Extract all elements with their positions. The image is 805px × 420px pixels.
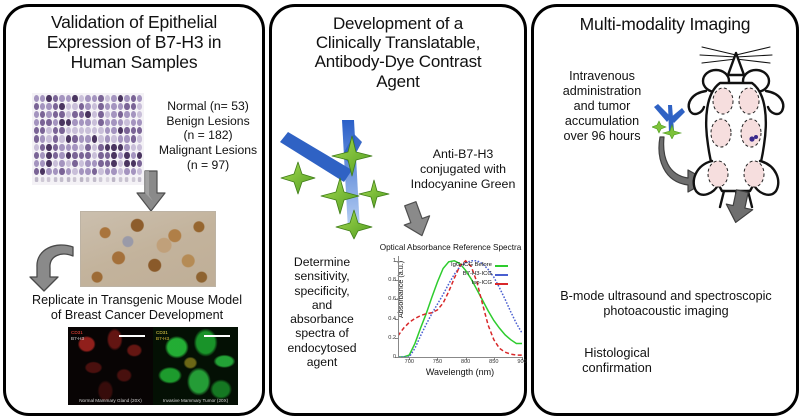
tma-core: [59, 103, 64, 110]
tma-core: [124, 160, 129, 167]
title-line: Antibody-Dye Contrast: [278, 52, 518, 71]
arrow-down-icon: [724, 189, 758, 225]
tma-core: [46, 135, 51, 142]
tma-core: [72, 95, 77, 102]
injection-line: over 96 hours: [548, 129, 656, 144]
arrow-down-right-icon: [402, 200, 436, 238]
tma-core: [72, 152, 77, 159]
determine-line: and: [280, 298, 364, 312]
tma-core: [111, 160, 116, 167]
cohort-line: (n = 182): [152, 128, 264, 143]
tma-core: [59, 135, 64, 142]
tma-core: [73, 177, 77, 182]
chart-x-tick-label: 750: [433, 359, 442, 365]
chart-legend: IgG-ICG BeforeB7-H3-ICGIso-ICG: [451, 261, 508, 288]
tma-core: [98, 152, 103, 159]
injection-text: Intravenous administration and tumor acc…: [548, 69, 656, 145]
legend-swatch: [495, 265, 508, 267]
tma-core: [111, 127, 116, 134]
panel-left-title: Validation of Epithelial Expression of B…: [6, 7, 262, 72]
tma-core: [40, 95, 45, 102]
tma-core: [79, 135, 84, 142]
tma-core: [118, 119, 123, 126]
fluorescence-caption: Normal Mammary Gland (20X): [68, 398, 153, 403]
chart-y-tick-label: 0: [393, 354, 396, 360]
tma-core: [54, 177, 58, 182]
tma-core: [40, 111, 45, 118]
tma-core: [124, 95, 129, 102]
tma-core: [111, 152, 116, 159]
tma-core: [53, 144, 58, 151]
tma-core: [105, 119, 110, 126]
tma-core: [98, 160, 103, 167]
tma-core: [137, 152, 142, 159]
tma-core: [40, 103, 45, 110]
fluorescence-image-pair: CD31 B7-H3 Normal Mammary Gland (20X) CD…: [68, 327, 238, 405]
tma-core: [66, 103, 71, 110]
tma-core: [124, 103, 129, 110]
tma-core: [137, 111, 142, 118]
tma-core: [118, 144, 123, 151]
tma-core: [59, 119, 64, 126]
tma-core: [98, 144, 103, 151]
chart-x-tick-label: 700: [405, 359, 414, 365]
tma-core: [46, 160, 51, 167]
chart-title: Optical Absorbance Reference Spectra: [373, 243, 528, 252]
ihc-stain-image: [80, 211, 216, 287]
tma-core: [124, 144, 129, 151]
tma-core: [85, 168, 90, 175]
panel-middle-title: Development of a Clinically Translatable…: [272, 7, 524, 91]
tma-core: [131, 160, 136, 167]
tma-core: [53, 103, 58, 110]
tma-core: [131, 152, 136, 159]
histology-line: confirmation: [566, 360, 668, 375]
tma-core: [79, 127, 84, 134]
tma-core: [66, 144, 71, 151]
tma-core: [111, 168, 116, 175]
tma-core: [59, 144, 64, 151]
tma-core: [105, 177, 109, 182]
determine-line: spectra of: [280, 326, 364, 340]
histology-text: Histological confirmation: [566, 345, 668, 376]
tma-core: [85, 103, 90, 110]
tma-core: [137, 95, 142, 102]
tma-core: [86, 177, 90, 182]
tma-core: [111, 119, 116, 126]
tma-core: [40, 168, 45, 175]
tma-core: [79, 119, 84, 126]
tma-core: [105, 127, 110, 134]
tma-core: [34, 152, 39, 159]
agent-line: conjugated with: [404, 162, 522, 177]
tma-core: [53, 152, 58, 159]
tma-core: [105, 135, 110, 142]
tma-core: [92, 168, 97, 175]
tma-core: [92, 144, 97, 151]
tma-core: [98, 111, 103, 118]
scale-bar: [119, 335, 145, 337]
tma-core: [34, 103, 39, 110]
injection-line: administration: [548, 84, 656, 99]
tma-core: [131, 127, 136, 134]
tma-core: [46, 168, 51, 175]
determine-text: Determine sensitivity, specificity, and …: [280, 255, 364, 369]
caption-line: of Breast Cancer Development: [14, 308, 260, 323]
tma-core: [72, 103, 77, 110]
tma-core: [137, 160, 142, 167]
tma-core: [118, 127, 123, 134]
chart-x-axis-label: Wavelength (nm): [398, 367, 522, 377]
tma-core: [40, 144, 45, 151]
legend-swatch: [495, 274, 508, 276]
tma-core: [53, 111, 58, 118]
tma-core: [111, 95, 116, 102]
tma-core: [137, 144, 142, 151]
tma-core: [40, 152, 45, 159]
tma-core: [137, 103, 142, 110]
legend-swatch: [495, 283, 508, 285]
chart-x-tick-label: 900: [517, 359, 526, 365]
chart-x-axis: [398, 357, 522, 358]
panel-right-title: Multi-modality Imaging: [534, 7, 796, 35]
agent-line: Anti-B7-H3: [404, 147, 522, 162]
determine-line: endocytosed: [280, 341, 364, 355]
cohort-counts: Normal (n= 53) Benign Lesions (n = 182) …: [152, 99, 264, 172]
tma-core: [41, 177, 45, 182]
title-line: Agent: [278, 72, 518, 91]
tma-core: [118, 168, 123, 175]
tma-core: [92, 152, 97, 159]
tma-core: [59, 152, 64, 159]
tma-core: [124, 135, 129, 142]
tma-core: [85, 152, 90, 159]
tma-core: [105, 111, 110, 118]
tma-core: [79, 144, 84, 151]
tma-core: [131, 119, 136, 126]
tma-core: [85, 119, 90, 126]
tma-core: [46, 119, 51, 126]
tma-core: [131, 144, 136, 151]
tma-core: [34, 111, 39, 118]
cohort-line: Normal (n= 53): [152, 99, 264, 114]
caption-line: Replicate in Transgenic Mouse Model: [14, 293, 260, 308]
antibody-icg-conjugate-icon: [274, 112, 414, 240]
mouse-model-caption: Replicate in Transgenic Mouse Model of B…: [14, 293, 260, 323]
tma-core: [46, 111, 51, 118]
tma-core: [59, 111, 64, 118]
tma-core: [72, 111, 77, 118]
tma-core: [118, 111, 123, 118]
chart-y-tick-label: 0.8: [388, 277, 396, 283]
tma-core: [98, 135, 103, 142]
tma-core: [80, 177, 84, 182]
tma-core: [66, 168, 71, 175]
mouse-illustration: [676, 41, 796, 209]
title-line: Clinically Translatable,: [278, 33, 518, 52]
tma-core: [46, 144, 51, 151]
arrow-down-icon: [134, 169, 168, 213]
tma-core: [72, 160, 77, 167]
tma-core: [60, 177, 64, 182]
title-line: Validation of Epithelial: [12, 13, 256, 33]
tma-core: [99, 177, 103, 182]
tma-core: [53, 127, 58, 134]
tma-core: [112, 177, 116, 182]
panel-validation: Validation of Epithelial Expression of B…: [3, 4, 265, 416]
tma-core: [85, 144, 90, 151]
tma-core: [93, 177, 97, 182]
tma-core: [34, 177, 38, 182]
tma-core: [92, 160, 97, 167]
tma-core: [34, 135, 39, 142]
agent-description: Anti-B7-H3 conjugated with Indocyanine G…: [404, 147, 522, 192]
chart-y-tick-label: 0.4: [388, 316, 396, 322]
tma-core: [66, 135, 71, 142]
tma-core: [124, 119, 129, 126]
tma-core: [137, 127, 142, 134]
tma-core: [118, 160, 123, 167]
tma-core: [66, 119, 71, 126]
tma-core: [34, 119, 39, 126]
tma-core: [53, 95, 58, 102]
tma-core: [85, 111, 90, 118]
agent-line: Indocyanine Green: [404, 177, 522, 192]
tma-core: [124, 168, 129, 175]
cohort-line: (n = 97): [152, 158, 264, 173]
cohort-line: Malignant Lesions: [152, 143, 264, 158]
imaging-caption-line: B-mode ultrasound and spectroscopic: [538, 289, 794, 304]
tma-core: [47, 177, 51, 182]
tma-core: [98, 103, 103, 110]
tma-core: [131, 95, 136, 102]
tma-core: [40, 135, 45, 142]
tma-core: [111, 135, 116, 142]
tma-core: [59, 95, 64, 102]
tma-core: [92, 127, 97, 134]
tma-core: [53, 168, 58, 175]
chart-x-tick-label: 800: [461, 359, 470, 365]
tma-core: [79, 103, 84, 110]
tma-core: [98, 127, 103, 134]
tma-core: [118, 177, 122, 182]
tma-core: [105, 95, 110, 102]
chart-y-tick-label: 0.6: [388, 296, 396, 302]
tma-core: [59, 160, 64, 167]
tma-core: [34, 168, 39, 175]
tma-core: [105, 160, 110, 167]
marker-label-b7h3: B7-H3: [71, 336, 84, 342]
absorbance-spectra-chart: Optical Absorbance Reference Spectra Abs…: [373, 243, 528, 385]
chart-y-tick-label: 0.2: [388, 335, 396, 341]
marker-label-cd31: CD31: [156, 330, 168, 336]
tma-core: [118, 152, 123, 159]
tma-core: [66, 127, 71, 134]
imaging-caption: B-mode ultrasound and spectroscopic phot…: [538, 289, 794, 319]
legend-item: IgG-ICG Before: [451, 261, 508, 270]
tma-core: [34, 160, 39, 167]
fluorescence-caption: Invasive Mammary Tumor (20X): [153, 398, 238, 403]
tma-core: [111, 111, 116, 118]
legend-item: Iso-ICG: [451, 279, 508, 288]
tma-core: [98, 119, 103, 126]
tma-core: [124, 111, 129, 118]
tma-core: [105, 144, 110, 151]
tma-core: [98, 168, 103, 175]
tma-core: [131, 103, 136, 110]
title-line: Human Samples: [12, 53, 256, 73]
injection-line: and tumor: [548, 99, 656, 114]
injection-line: accumulation: [548, 114, 656, 129]
tma-core: [53, 135, 58, 142]
tma-core: [105, 152, 110, 159]
tma-core: [92, 119, 97, 126]
tma-core: [72, 135, 77, 142]
fluorescence-invasive-tumor: CD31 B7-H3 Invasive Mammary Tumor (20X): [153, 327, 238, 405]
tma-core: [46, 95, 51, 102]
tma-core: [118, 135, 123, 142]
injection-line: Intravenous: [548, 69, 656, 84]
tma-core: [92, 95, 97, 102]
chart-y-axis: [398, 256, 399, 357]
tma-core: [72, 127, 77, 134]
tma-core: [125, 177, 129, 182]
tma-core: [66, 111, 71, 118]
tma-core: [79, 168, 84, 175]
tma-core: [46, 103, 51, 110]
tma-core: [105, 168, 110, 175]
legend-label: Iso-ICG: [472, 279, 492, 288]
tma-core: [34, 127, 39, 134]
chart-x-tick-label: 850: [489, 359, 498, 365]
tma-core: [66, 95, 71, 102]
fluorescence-normal-gland: CD31 B7-H3 Normal Mammary Gland (20X): [68, 327, 153, 405]
tma-core: [137, 135, 142, 142]
tma-core: [79, 111, 84, 118]
tma-core: [85, 127, 90, 134]
determine-line: sensitivity,: [280, 269, 364, 283]
title-line: Development of a: [278, 14, 518, 33]
tma-core: [79, 152, 84, 159]
title-line: Expression of B7-H3 in: [12, 33, 256, 53]
legend-label: B7-H3-ICG: [463, 270, 492, 279]
tma-core: [85, 135, 90, 142]
tma-core: [118, 103, 123, 110]
tma-core: [111, 144, 116, 151]
tma-core: [92, 103, 97, 110]
tma-core: [118, 95, 123, 102]
tissue-microarray-image: [32, 93, 144, 185]
tma-core: [59, 127, 64, 134]
tma-core: [72, 119, 77, 126]
cohort-line: Benign Lesions: [152, 114, 264, 129]
tma-core: [66, 160, 71, 167]
determine-line: agent: [280, 355, 364, 369]
determine-line: Determine: [280, 255, 364, 269]
curved-arrow-icon: [28, 239, 80, 293]
marker-label-cd31: CD31: [71, 330, 83, 336]
tma-core: [67, 177, 71, 182]
tma-core: [137, 119, 142, 126]
tma-core: [40, 160, 45, 167]
chart-y-tick-label: 1: [393, 258, 396, 264]
determine-line: absorbance: [280, 312, 364, 326]
legend-label: IgG-ICG Before: [451, 261, 492, 270]
tma-core: [46, 152, 51, 159]
panel-multimodality-imaging: Multi-modality Imaging Intravenous admin…: [531, 4, 799, 416]
tma-core: [66, 152, 71, 159]
tma-core: [79, 160, 84, 167]
tma-core: [98, 95, 103, 102]
scale-bar: [204, 335, 230, 337]
tma-core: [105, 103, 110, 110]
tma-core: [111, 103, 116, 110]
imaging-caption-line: photoacoustic imaging: [538, 304, 794, 319]
tma-core: [53, 119, 58, 126]
histology-line: Histological: [566, 345, 668, 360]
tma-core: [72, 144, 77, 151]
tma-core: [131, 111, 136, 118]
tma-core: [92, 135, 97, 142]
marker-label-b7h3: B7-H3: [156, 336, 169, 342]
tma-core: [124, 152, 129, 159]
determine-line: specificity,: [280, 284, 364, 298]
tma-core: [85, 160, 90, 167]
tma-core: [46, 127, 51, 134]
tma-core: [72, 168, 77, 175]
tma-core: [40, 127, 45, 134]
tma-core: [53, 160, 58, 167]
tma-core: [34, 95, 39, 102]
tma-core: [40, 119, 45, 126]
tma-core: [85, 95, 90, 102]
tma-core: [124, 127, 129, 134]
legend-item: B7-H3-ICG: [451, 270, 508, 279]
tma-core: [79, 95, 84, 102]
tma-core: [131, 135, 136, 142]
tma-core: [59, 168, 64, 175]
tma-core: [34, 144, 39, 151]
tma-core: [92, 111, 97, 118]
